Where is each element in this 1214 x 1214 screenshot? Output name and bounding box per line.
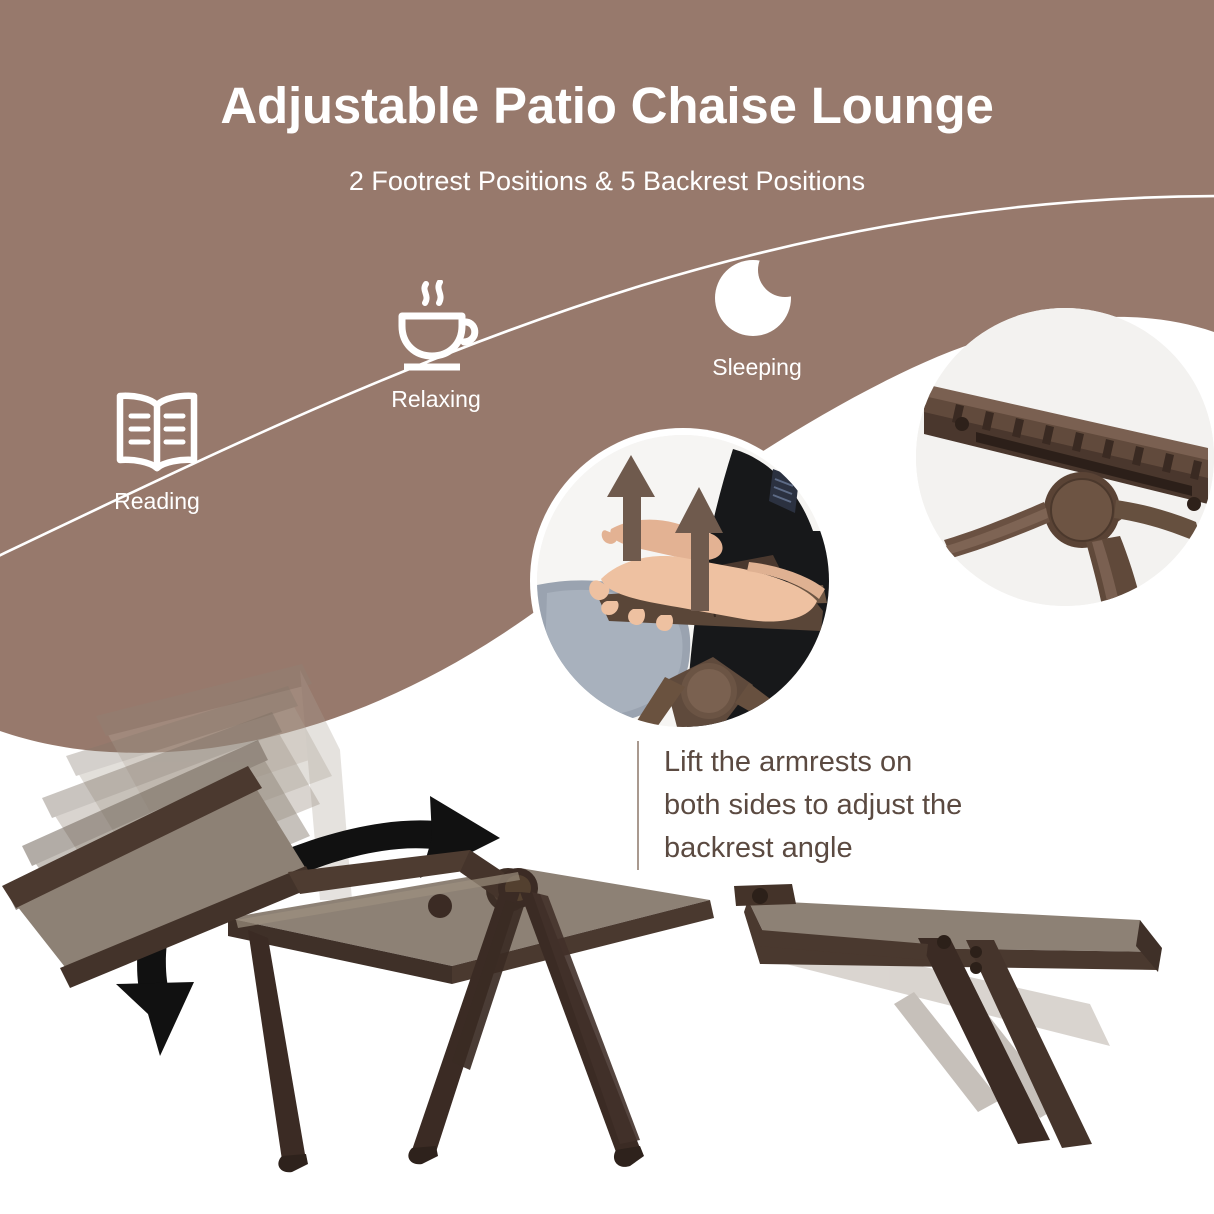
product-illustration bbox=[0, 600, 1214, 1214]
footrest-solid bbox=[734, 884, 1162, 1148]
leg-feet bbox=[278, 1146, 644, 1172]
frame-joint-closeup bbox=[916, 308, 1214, 606]
open-book-icon bbox=[57, 388, 257, 479]
feature-label-relaxing: Relaxing bbox=[336, 385, 536, 413]
feature-label-sleeping: Sleeping bbox=[657, 353, 857, 381]
crescent-moon-z-icon: z bbox=[657, 248, 857, 345]
feature-sleeping: z Sleeping bbox=[657, 248, 857, 381]
page-subtitle: 2 Footrest Positions & 5 Backrest Positi… bbox=[0, 164, 1214, 198]
feature-label-reading: Reading bbox=[57, 487, 257, 515]
page-title: Adjustable Patio Chaise Lounge bbox=[0, 76, 1214, 136]
feature-relaxing: Relaxing bbox=[336, 280, 536, 413]
product-marketing-image: Adjustable Patio Chaise Lounge 2 Footres… bbox=[0, 0, 1214, 1214]
feature-reading: Reading bbox=[57, 388, 257, 515]
coffee-cup-icon bbox=[336, 280, 536, 377]
